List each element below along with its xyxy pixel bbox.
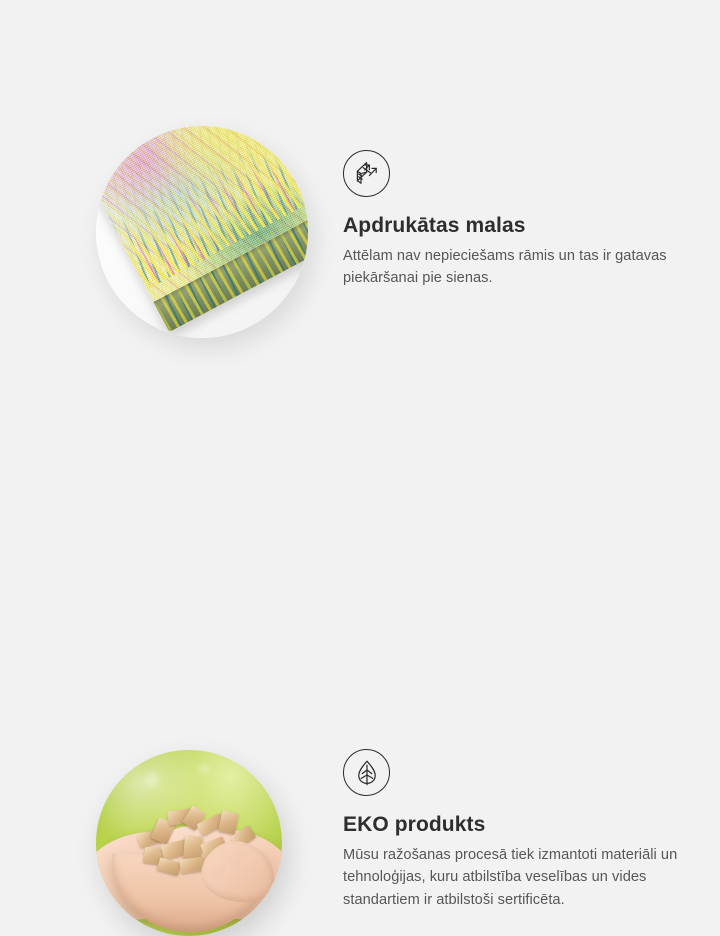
feature-title-printed-edges: Apdrukātas malas	[343, 213, 683, 238]
eco-product-text-block: EKO produkts Mūsu ražošanas procesā tiek…	[343, 749, 691, 911]
wrapped-edges-icon	[343, 150, 390, 197]
feature-eco-product: EKO produkts Mūsu ražošanas procesā tiek…	[0, 360, 720, 720]
feature-printed-edges: Apdrukātas malas Attēlam nav nepieciešam…	[0, 0, 720, 360]
canvas-block	[96, 126, 308, 332]
feature-title-eco-product: EKO produkts	[343, 812, 691, 837]
canvas-photo-backdrop	[96, 126, 308, 338]
printed-edges-text-block: Apdrukātas malas Attēlam nav nepieciešam…	[343, 150, 683, 290]
meadow-backdrop	[96, 750, 282, 936]
product-feature-page: Apdrukātas malas Attēlam nav nepieciešam…	[0, 0, 720, 720]
wood-chips-in-hands-photo	[96, 750, 282, 936]
feature-description-eco-product: Mūsu ražošanas procesā tiek izmantoti ma…	[343, 844, 691, 911]
canvas-corner-photo	[96, 126, 308, 338]
leaf-icon	[343, 749, 390, 796]
feature-description-printed-edges: Attēlam nav nepieciešams rāmis un tas ir…	[343, 245, 683, 289]
